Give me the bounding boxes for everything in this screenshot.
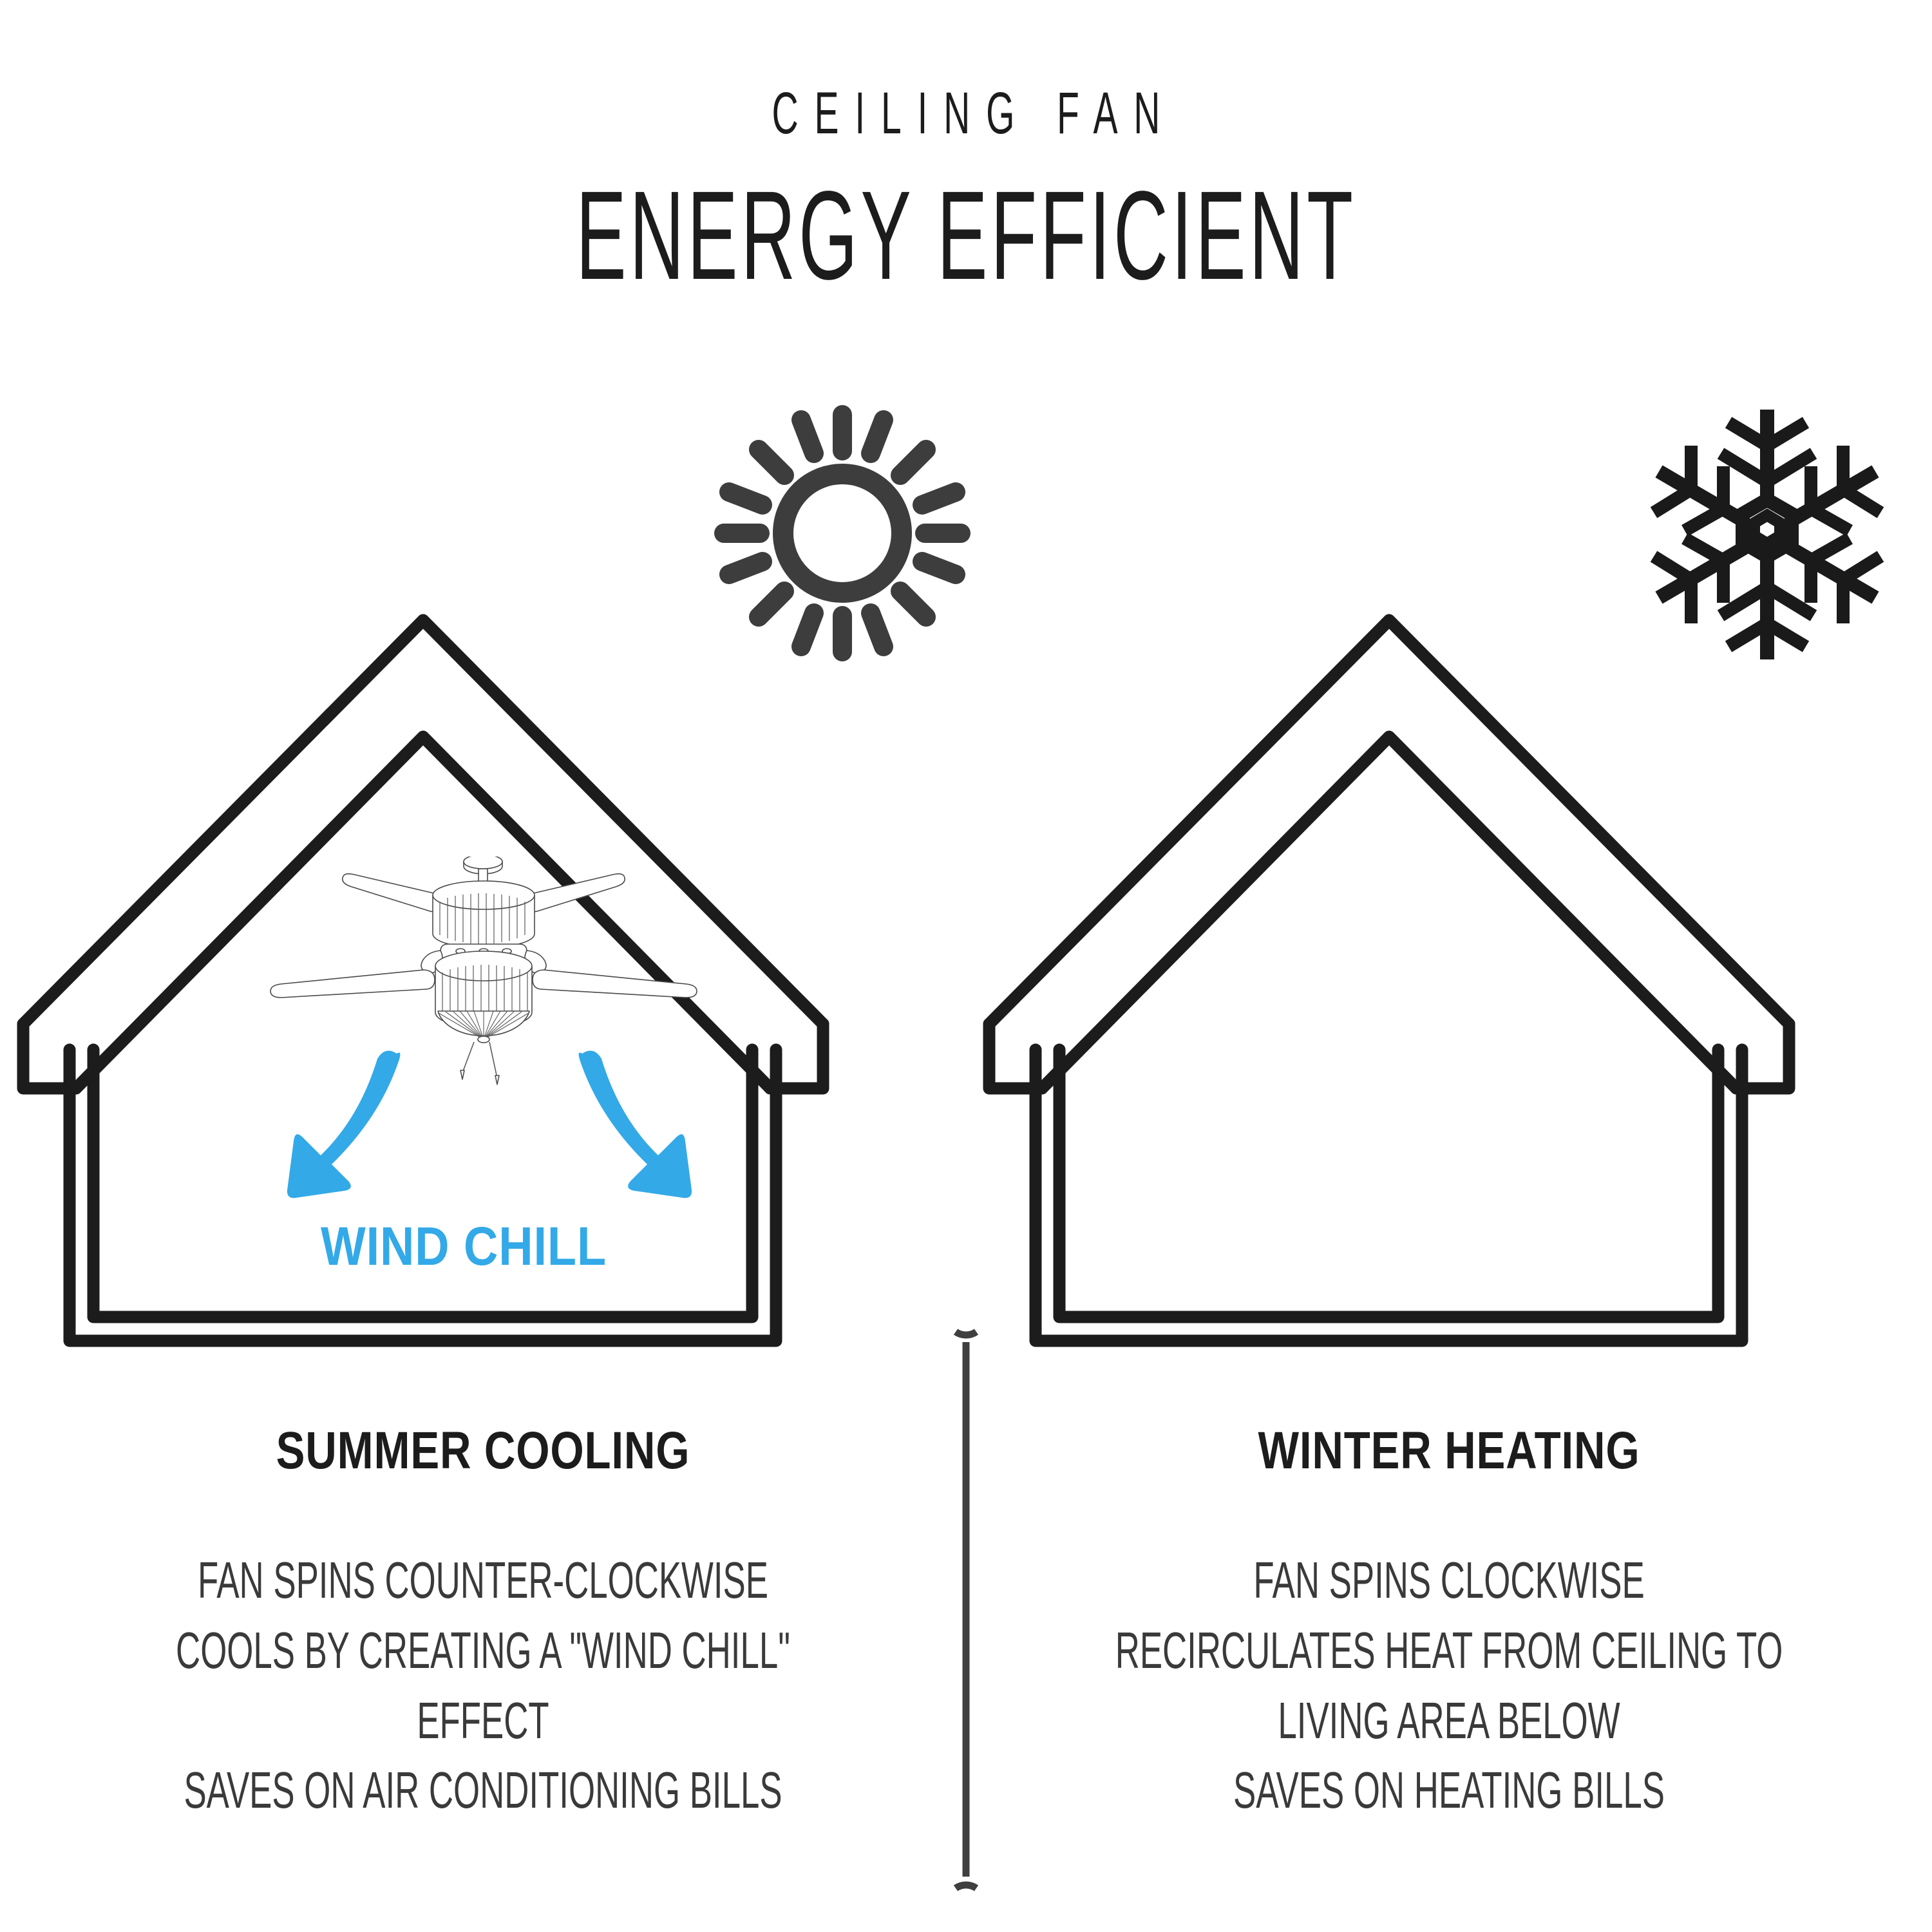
body-winter-heating: FAN SPINS CLOCKWISE RECIRCULATES HEAT FR… — [1050, 1546, 1849, 1826]
heading-winter-heating: WINTER HEATING — [1084, 1425, 1814, 1477]
body-line: LIVING AREA BELOW — [1050, 1686, 1849, 1756]
vertical-divider-icon — [927, 1327, 1005, 1893]
house-outline-icon — [966, 599, 1932, 1359]
body-line: EFFECT — [84, 1686, 883, 1756]
body-line: RECIRCULATES HEAT FROM CEILING TO — [1050, 1616, 1849, 1686]
curved-arrow-down-left-icon — [287, 1051, 400, 1198]
heading-summer-cooling: SUMMER COOLING — [118, 1425, 848, 1477]
body-line: COOLS BY CREATING A "WIND CHILL" — [84, 1616, 883, 1686]
curved-arrow-down-right-icon — [579, 1051, 692, 1198]
body-line: SAVES ON HEATING BILLS — [1050, 1756, 1849, 1826]
body-line: FAN SPINS COUNTER-CLOCKWISE — [84, 1546, 883, 1616]
wind-chill-label: WIND CHILL — [124, 1216, 804, 1276]
body-line: FAN SPINS CLOCKWISE — [1050, 1546, 1849, 1616]
body-summer-cooling: FAN SPINS COUNTER-CLOCKWISE COOLS BY CRE… — [84, 1546, 883, 1826]
infographic-canvas: CEILING FAN ENERGY EFFICIENT — [0, 0, 1932, 1932]
body-line: SAVES ON AIR CONDITIONING BILLS — [84, 1756, 883, 1826]
